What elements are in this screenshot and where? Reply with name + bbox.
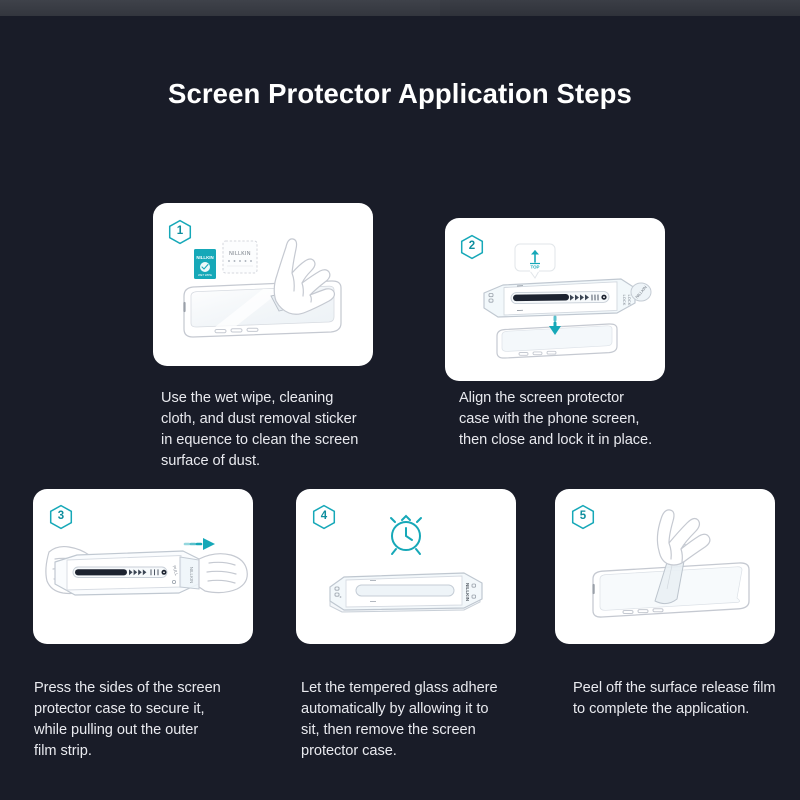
step-3-number: 3 bbox=[48, 504, 74, 530]
browser-chrome-strip bbox=[0, 0, 800, 16]
step-card-3[interactable]: PULL NILLKIN bbox=[33, 489, 253, 644]
step-5-caption: Peel off the surface release film to com… bbox=[573, 678, 793, 720]
step-4-badge: 4 bbox=[311, 504, 337, 530]
svg-text:NILLKIN: NILLKIN bbox=[229, 251, 251, 257]
step-card-5[interactable]: 5 bbox=[555, 489, 775, 644]
step-4-number: 4 bbox=[311, 504, 337, 530]
step-4-caption: Let the tempered glass adhere automatica… bbox=[301, 678, 537, 762]
svg-text:NILLKIN: NILLKIN bbox=[189, 567, 194, 584]
page-stage: Screen Protector Application Steps NILLK… bbox=[0, 16, 800, 800]
step-2-badge: 2 bbox=[459, 234, 485, 260]
step-2-number: 2 bbox=[459, 234, 485, 260]
svg-text:LOCK: LOCK bbox=[627, 295, 632, 306]
svg-text:WET WIPE: WET WIPE bbox=[198, 273, 212, 277]
step-2-caption: Align the screen protector case with the… bbox=[459, 388, 689, 451]
step-card-1[interactable]: NILLKIN WET WIPE NILLKIN bbox=[153, 203, 373, 366]
step-1-badge: 1 bbox=[167, 219, 193, 245]
step-1-caption: Use the wet wipe, cleaning cloth, and du… bbox=[161, 388, 387, 472]
page-title: Screen Protector Application Steps bbox=[0, 78, 800, 110]
step-1-number: 1 bbox=[167, 219, 193, 245]
step-card-4[interactable]: NILLKIN 4 bbox=[296, 489, 516, 644]
step-3-badge: 3 bbox=[48, 504, 74, 530]
chrome-strip-shade bbox=[0, 0, 440, 16]
step-3-caption: Press the sides of the screen protector … bbox=[34, 678, 264, 762]
svg-text:NILLKIN: NILLKIN bbox=[196, 255, 213, 260]
svg-text:NILLKIN: NILLKIN bbox=[465, 583, 470, 602]
step-5-number: 5 bbox=[570, 504, 596, 530]
step-card-2[interactable]: TOP bbox=[445, 218, 665, 381]
step-5-badge: 5 bbox=[570, 504, 596, 530]
svg-text:LOCK: LOCK bbox=[622, 295, 627, 306]
svg-text:TOP: TOP bbox=[531, 265, 540, 270]
